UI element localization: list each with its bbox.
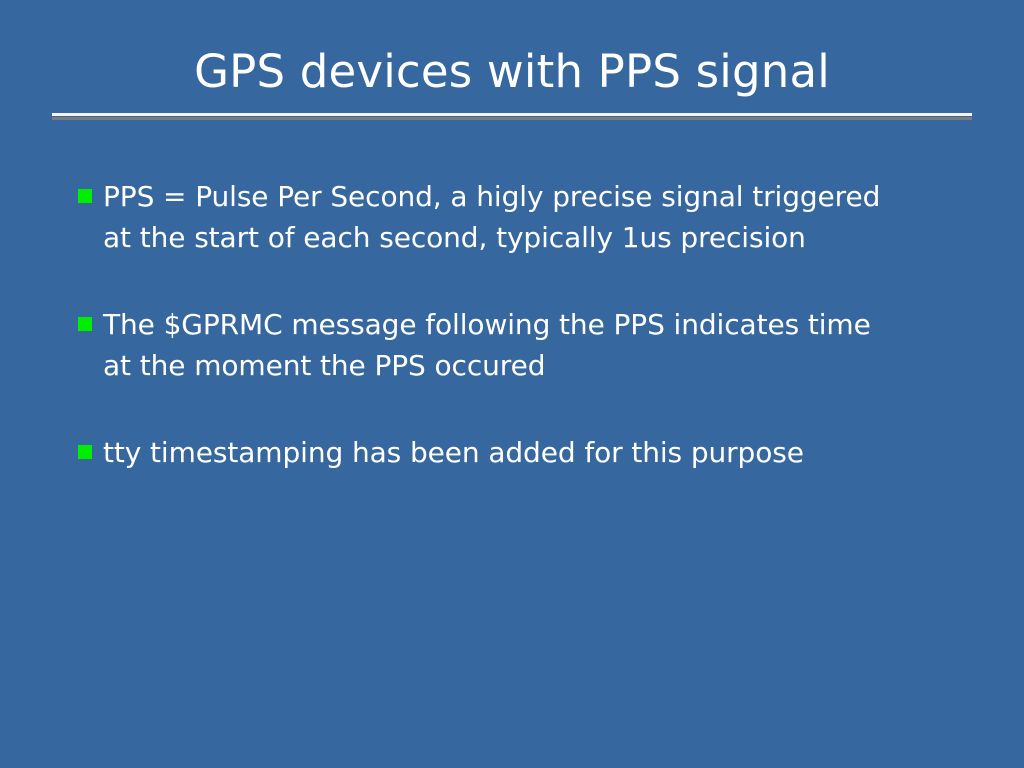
- green-square-bullet-icon: [78, 317, 92, 331]
- divider-shadow-line: [52, 117, 972, 120]
- slide-body: PPS = Pulse Per Second, a higly precise …: [78, 176, 958, 473]
- green-square-bullet-icon: [78, 445, 92, 459]
- list-item: The $GPRMC message following the PPS ind…: [78, 304, 958, 386]
- presentation-slide: GPS devices with PPS signal PPS = Pulse …: [0, 0, 1024, 768]
- page-title: GPS devices with PPS signal: [0, 44, 1024, 100]
- green-square-bullet-icon: [78, 189, 92, 203]
- divider-highlight-line: [52, 113, 972, 116]
- slide-title-block: GPS devices with PPS signal: [0, 44, 1024, 124]
- list-item-label: PPS = Pulse Per Second, a higly precise …: [103, 176, 913, 258]
- list-item-label: The $GPRMC message following the PPS ind…: [103, 304, 893, 386]
- list-item-label: tty timestamping has been added for this…: [103, 432, 958, 473]
- list-item: tty timestamping has been added for this…: [78, 432, 958, 473]
- title-divider: [52, 113, 972, 120]
- list-item: PPS = Pulse Per Second, a higly precise …: [78, 176, 958, 258]
